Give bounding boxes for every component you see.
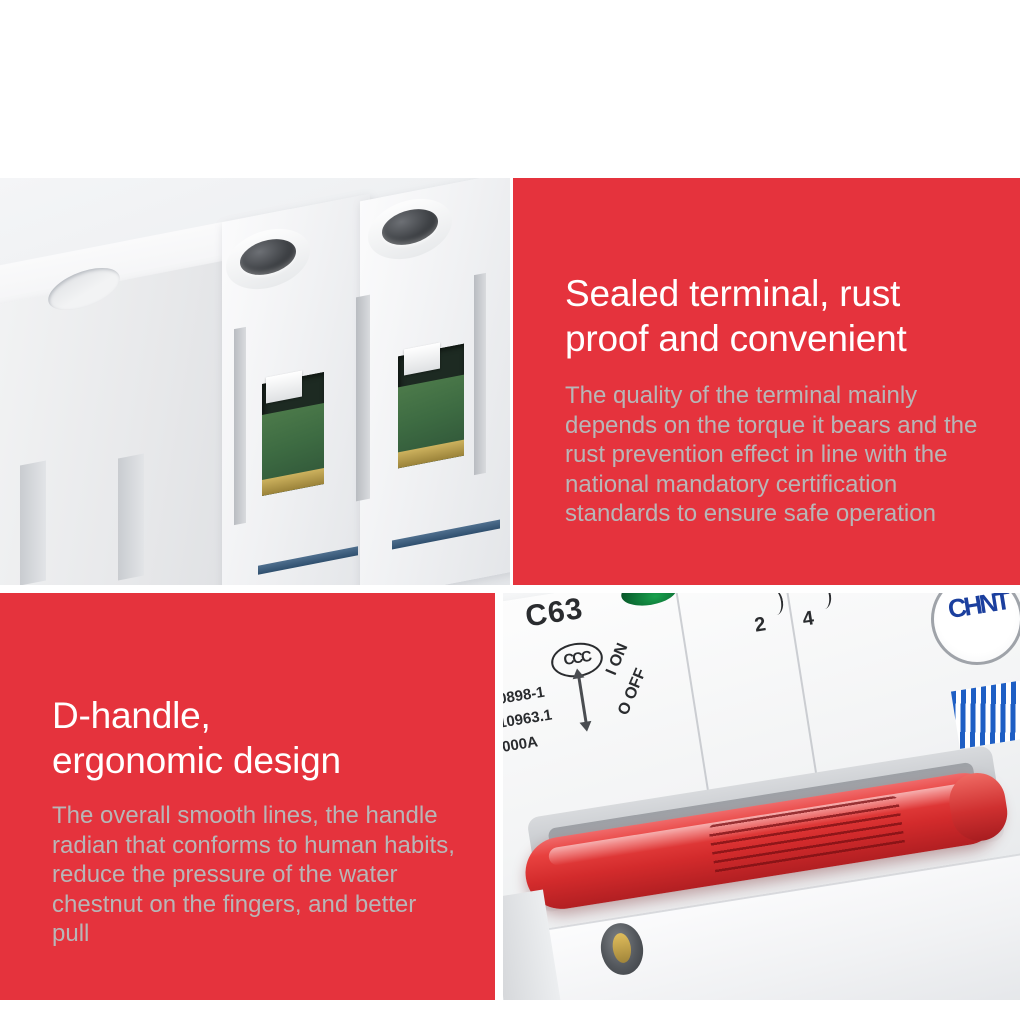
blue-label-stripes — [951, 679, 1020, 749]
sealed-terminal-body-wrap: The quality of the terminal mainly depen… — [565, 381, 1015, 529]
module-slot — [234, 327, 246, 525]
panel-d-handle: D-handle, ergonomic design The overall s… — [0, 593, 495, 1000]
screw-brass-core — [611, 932, 633, 964]
panel-sealed-terminal: Sealed terminal, rust proof and convenie… — [513, 178, 1020, 585]
brand-logo-mark: CHNT — [945, 593, 1004, 626]
d-handle-body-wrap: The overall smooth lines, the handle rad… — [52, 801, 482, 949]
module-slot — [356, 295, 370, 502]
sealed-terminal-heading-wrap: Sealed terminal, rust proof and convenie… — [565, 271, 985, 361]
sealed-terminal-heading: Sealed terminal, rust proof and convenie… — [565, 271, 985, 361]
d-handle-heading: D-handle, ergonomic design — [52, 693, 452, 783]
body-groove — [118, 453, 144, 580]
module-slot — [474, 273, 486, 475]
photo-sealed-terminals — [0, 178, 510, 585]
photo-d-handle: C63 CCC 0898-1 10963.1 000A I ON O OFF 2… — [503, 593, 1020, 1000]
body-groove — [20, 460, 46, 585]
d-handle-heading-wrap: D-handle, ergonomic design — [52, 693, 452, 783]
d-handle-body: The overall smooth lines, the handle rad… — [52, 801, 482, 949]
product-infographic: Sealed terminal, rust proof and convenie… — [0, 0, 1020, 1020]
sealed-terminal-body: The quality of the terminal mainly depen… — [565, 381, 1015, 529]
